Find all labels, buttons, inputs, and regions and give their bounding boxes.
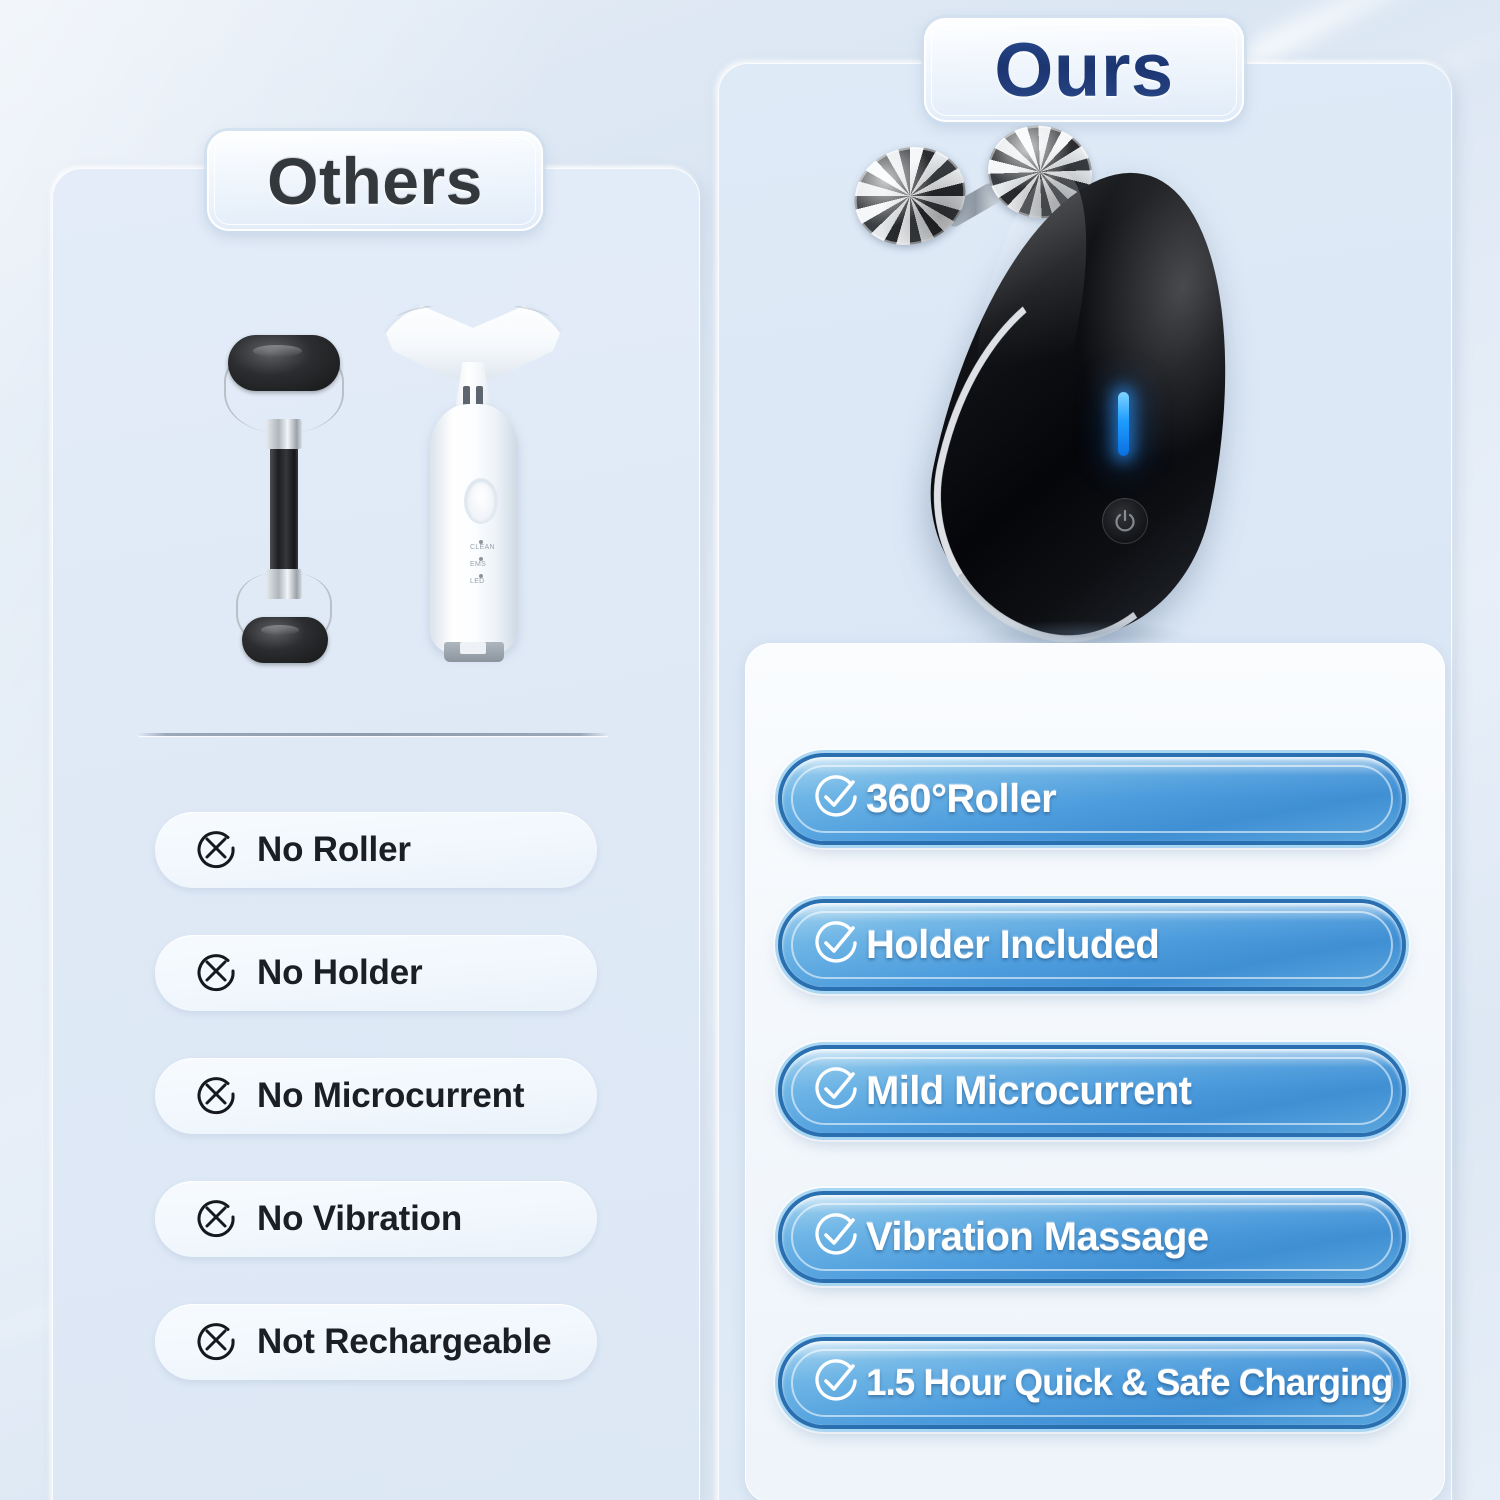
others-feature-item[interactable]: No Holder [155, 935, 597, 1011]
ours-product-image [830, 120, 1270, 650]
jade-roller-image [200, 335, 370, 675]
ours-feature-label: Vibration Massage [866, 1215, 1209, 1260]
power-button-icon [1102, 498, 1148, 544]
others-title-badge: Others [207, 131, 543, 231]
circle-x-icon [193, 948, 239, 999]
ours-feature-item[interactable]: Holder Included [782, 903, 1402, 987]
ours-feature-label: Mild Microcurrent [866, 1069, 1191, 1114]
neck-device-image: CLEAN EMS LED [378, 290, 568, 680]
circle-x-icon [193, 1071, 239, 1122]
circle-x-icon [193, 825, 239, 876]
circle-check-icon [810, 1063, 862, 1120]
others-feature-item[interactable]: No Roller [155, 812, 597, 888]
circle-x-icon [193, 1317, 239, 1368]
ours-feature-list: 360°Roller Holder Included Mild Microcur… [782, 757, 1402, 1487]
roller-ferrule-top [266, 419, 302, 449]
ours-feature-item[interactable]: 360°Roller [782, 757, 1402, 841]
others-product-images: CLEAN EMS LED [170, 290, 590, 690]
roller-ferrule-bottom [266, 569, 302, 599]
neck-device-body [430, 404, 518, 654]
ours-feature-label: 1.5 Hour Quick & Safe Charging [866, 1362, 1392, 1404]
chrome-roller-ball [842, 133, 978, 259]
ours-feature-item[interactable]: Mild Microcurrent [782, 1049, 1402, 1133]
ours-title-badge: Ours [924, 18, 1244, 122]
others-feature-label: No Holder [257, 953, 422, 993]
roller-stone-large [228, 335, 340, 391]
ours-feature-item[interactable]: 1.5 Hour Quick & Safe Charging [782, 1341, 1402, 1425]
others-feature-item[interactable]: No Vibration [155, 1181, 597, 1257]
circle-check-icon [810, 1355, 862, 1412]
ours-feature-item[interactable]: Vibration Massage [782, 1195, 1402, 1279]
ours-title-text: Ours [994, 27, 1173, 114]
led-indicator [1118, 392, 1129, 456]
circle-check-icon [810, 771, 862, 828]
neck-device-mode-label: LED [470, 578, 485, 585]
roller-handle [270, 427, 298, 583]
roller-stone-small [242, 617, 328, 663]
others-title-text: Others [267, 143, 483, 219]
neck-device-mode-label: EMS [470, 561, 486, 568]
others-feature-item[interactable]: Not Rechargeable [155, 1304, 597, 1380]
others-feature-label: No Microcurrent [257, 1076, 524, 1116]
circle-check-icon [810, 1209, 862, 1266]
ours-feature-label: 360°Roller [866, 777, 1056, 822]
neck-device-power-button [464, 478, 498, 524]
ours-feature-label: Holder Included [866, 923, 1159, 968]
others-feature-label: No Roller [257, 830, 411, 870]
neck-device-mode-label: CLEAN [470, 544, 495, 551]
others-feature-item[interactable]: No Microcurrent [155, 1058, 597, 1134]
comparison-infographic: Others CLEAN EMS LED [0, 0, 1500, 1500]
others-feature-list: No Roller No Holder No Microcurrent [155, 812, 597, 1427]
others-divider [138, 733, 608, 736]
others-feature-label: No Vibration [257, 1199, 462, 1239]
others-feature-label: Not Rechargeable [257, 1322, 551, 1362]
circle-x-icon [193, 1194, 239, 1245]
neck-device-base-plate [444, 642, 504, 662]
circle-check-icon [810, 917, 862, 974]
neck-device-mode-indicators: CLEAN EMS LED [470, 540, 540, 591]
